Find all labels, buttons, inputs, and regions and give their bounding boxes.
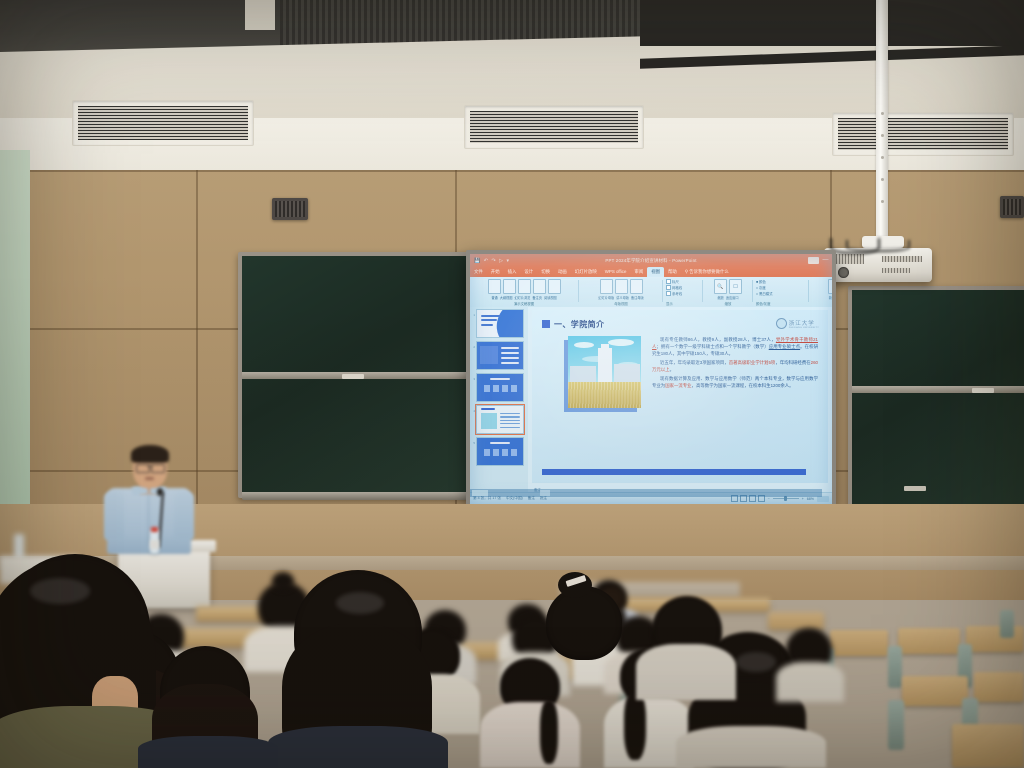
thumbnail-row-3[interactable]: 3	[471, 373, 528, 402]
ceiling-vent-right	[832, 112, 1014, 156]
photo-field	[568, 382, 641, 408]
ribbon-tab-7[interactable]: WPS office	[601, 267, 631, 277]
ribbon-group-show[interactable]: 标尺网格线参考线 显示	[666, 277, 700, 307]
slide-paragraph-0: 现有专任教师86人，教授9人，副教授28人，博士37人，党外学术骨干教师21人；…	[652, 336, 818, 357]
ribbon-tab-5[interactable]: 动画	[554, 267, 571, 277]
zoom-icon[interactable]: 🔍	[714, 279, 727, 294]
panel-seam-top	[30, 170, 1024, 172]
ribbon-tab-2[interactable]: 插入	[504, 267, 521, 277]
audience-shoulders-r6	[480, 702, 580, 768]
wall-speaker	[272, 198, 308, 220]
ribbon-tab-3[interactable]: 设计	[520, 267, 537, 277]
slide-accent-bar	[542, 469, 806, 475]
lecture-hall-photo: 💾 ↶ ↷ ▷ ▾ PPT 2024年学院介绍宣讲材料 - PowerPoint…	[0, 0, 1024, 768]
chalkboard-right	[848, 286, 1024, 516]
audience-shoulders-f6	[636, 644, 736, 700]
slide-thumbnail-2[interactable]	[476, 341, 524, 370]
ribbon-tab-strip[interactable]: 文件开始插入设计切换动画幻灯片放映WPS office审阅视图帮助⚲ 告诉我你想…	[470, 267, 832, 277]
slide-paragraph-1: 近五年，年均录取近3项国家项目，首著高级职业学计划5项，年均科研经费在260万元…	[652, 359, 818, 373]
slide-thumbnail-pane[interactable]: 12345	[470, 307, 529, 493]
empty-seat-6[interactable]	[952, 724, 1024, 768]
presenter-mouth	[145, 477, 154, 480]
checkbox-icon-2[interactable]	[666, 291, 671, 296]
chalkboard-left	[238, 252, 474, 498]
taskbar-start-icon	[472, 490, 488, 496]
color-grayscale-items[interactable]: ■ 颜色□ 灰度□ 黑白模式	[756, 277, 773, 296]
view-item-2[interactable]: 幻灯片浏览	[514, 295, 530, 300]
checkbox-icon-1[interactable]	[666, 285, 671, 290]
slide-photo[interactable]	[568, 336, 641, 408]
slide-thumbnail-4[interactable]	[476, 405, 524, 434]
zoom-in-button[interactable]: +	[802, 497, 804, 501]
ribbon-group-3-labels: 缩放适应窗口	[717, 295, 738, 300]
thumbnail-row-1[interactable]: 1	[471, 309, 528, 338]
view-item-4[interactable]: 阅读视图	[544, 295, 557, 300]
ribbon-tab-1[interactable]: 开始	[487, 267, 504, 277]
slide-title: 一、学院简介	[554, 319, 604, 330]
show-checkbox-0[interactable]: 标尺	[666, 279, 682, 284]
podium-microphone-head	[157, 488, 163, 496]
zoom-slider[interactable]	[773, 498, 799, 499]
view-item-0[interactable]: 普通	[491, 295, 497, 300]
presenter-arm-left	[104, 492, 124, 540]
reading-view-icon[interactable]	[548, 279, 561, 294]
ceiling-vent-center	[464, 105, 644, 149]
ribbon-group-zoom[interactable]: 🔍 ☐ 缩放适应窗口 缩放	[706, 277, 750, 307]
ribbon-tab-8[interactable]: 审阅	[630, 267, 647, 277]
slide-body-text[interactable]: 现有专任教师86人，教授9人，副教授28人，博士37人，党外学术骨干教师21人；…	[652, 336, 818, 391]
audience-shoulders-f4	[138, 736, 278, 768]
audience-bun-f5	[558, 572, 592, 598]
ribbon-group-window[interactable]: 新建窗口全部重排层叠移动拆分 窗口	[812, 277, 832, 307]
seat-arm-2	[888, 646, 902, 688]
outline-view-icon[interactable]	[503, 279, 516, 294]
notes-page-icon[interactable]	[533, 279, 546, 294]
ribbon-group-presentation-views[interactable]: 普通大纲视图幻灯片浏览备注页阅读视图 演示文稿视图	[472, 277, 576, 307]
audience-ponytail-r6	[540, 700, 558, 764]
slide-thumbnail-3[interactable]	[476, 373, 524, 402]
ribbon-group-master-views[interactable]: 幻灯片母版讲义母版备注母版 母版视图	[582, 277, 660, 307]
master-item-1[interactable]: 讲义母版	[616, 295, 629, 300]
ribbon-group-color-grayscale[interactable]: ■ 颜色□ 灰度□ 黑白模式 颜色/灰度	[756, 277, 806, 307]
presenter-placket	[148, 494, 149, 544]
ppt-document-title: PPT 2024年学院介绍宣讲材料 - PowerPoint	[470, 258, 832, 264]
university-logo-en: ZHEJIANG UNIVERSITY	[789, 327, 819, 329]
ribbon-tab-0[interactable]: 文件	[470, 267, 487, 277]
normal-view-icon[interactable]	[488, 279, 501, 294]
slide-thumbnail-1[interactable]	[476, 309, 524, 338]
close-window-button[interactable]: —	[822, 257, 829, 264]
audience-ponytail-r2	[624, 690, 646, 760]
audience-shoulders-r3	[676, 726, 826, 768]
ribbon-tab-10[interactable]: 帮助	[664, 267, 681, 277]
view-item-1[interactable]: 大纲视图	[500, 295, 513, 300]
color-mode-0[interactable]: ■ 颜色	[756, 279, 773, 284]
projected-taskbar	[470, 489, 822, 497]
show-checkbox-label-2: 参考线	[672, 291, 682, 296]
empty-seat-7[interactable]	[768, 612, 824, 630]
restore-window-button[interactable]	[808, 257, 819, 264]
wall-speaker-right	[1000, 196, 1024, 218]
empty-seat-2[interactable]	[898, 628, 960, 654]
university-seal-icon	[776, 318, 787, 329]
presenter-hair	[131, 445, 169, 463]
master-item-2[interactable]: 备注母版	[631, 295, 644, 300]
ribbon-tab-9[interactable]: 视图	[647, 267, 664, 277]
fit-to-window-icon[interactable]: ☐	[729, 279, 742, 294]
zoom-item-1[interactable]: 适应窗口	[726, 295, 739, 300]
presenter-glasses-bridge	[147, 466, 152, 467]
tell-me-search[interactable]: ⚲ 告诉我你想要做什么	[681, 267, 733, 277]
slide-master-icon[interactable]	[600, 279, 613, 294]
title-bullet-icon	[542, 320, 550, 328]
handout-master-icon[interactable]	[615, 279, 628, 294]
ribbon-group-0-labels: 普通大纲视图幻灯片浏览备注页阅读视图	[491, 295, 556, 300]
view-item-3[interactable]: 备注页	[532, 295, 542, 300]
photo-sky	[568, 336, 641, 382]
empty-seat-5[interactable]	[974, 672, 1024, 702]
new-window-icon[interactable]	[828, 279, 832, 294]
powerpoint-window[interactable]: 💾 ↶ ↷ ▷ ▾ PPT 2024年学院介绍宣讲材料 - PowerPoint…	[470, 254, 832, 504]
ceiling-recess	[640, 0, 1024, 46]
audience-bun-b7	[272, 572, 294, 590]
color-mode-2[interactable]: □ 黑白模式	[756, 291, 773, 296]
show-checkbox-2[interactable]: 参考线	[666, 291, 682, 296]
master-item-0[interactable]: 幻灯片母版	[598, 295, 614, 300]
ribbon-view-tab[interactable]: 普通大纲视图幻灯片浏览备注页阅读视图 演示文稿视图 幻灯片母版讲义母版备注母版 …	[470, 277, 832, 308]
ppt-title-bar: 💾 ↶ ↷ ▷ ▾ PPT 2024年学院介绍宣讲材料 - PowerPoint…	[470, 254, 832, 267]
water-bottle-cap	[151, 527, 158, 532]
seat-arm-4	[888, 700, 904, 750]
audience-shoulders-f1	[268, 726, 448, 768]
notes-master-icon[interactable]	[630, 279, 643, 294]
current-slide[interactable]: 一、学院简介 浙江大学 ZHEJIANG UNIVERSITY	[532, 310, 828, 483]
projection-screen: 💾 ↶ ↷ ▷ ▾ PPT 2024年学院介绍宣讲材料 - PowerPoint…	[466, 250, 836, 508]
presenter-arm-right	[174, 492, 194, 540]
slide-paragraph-2: 现有数据计算及应用、数学与应用数学（师范）两个本科专业，数学与应用数学专业为国家…	[652, 375, 818, 389]
presenter-glasses-right	[151, 464, 165, 473]
thumbnail-row-5[interactable]: 5	[471, 437, 528, 466]
university-logo-cn: 浙江大学	[789, 319, 819, 327]
ceiling-fixture	[245, 0, 275, 30]
zoom-item-0[interactable]: 缩放	[717, 295, 723, 300]
water-bottle-label	[150, 540, 159, 549]
projector-cable-2	[846, 240, 910, 252]
seat-arm-6	[1000, 610, 1014, 638]
ceiling-vent-left	[72, 100, 254, 146]
thumbnail-number-2: 2	[471, 341, 475, 349]
zoom-out-button[interactable]: −	[768, 497, 770, 501]
show-checkbox-label-0: 标尺	[672, 279, 679, 284]
window-item-0[interactable]: 新建窗口	[829, 295, 832, 300]
show-checkbox-1[interactable]: 网格线	[666, 285, 682, 290]
slide-sorter-icon[interactable]	[518, 279, 531, 294]
ribbon-group-5-labels: 新建窗口全部重排层叠移动拆分	[829, 295, 832, 300]
show-checkboxes[interactable]: 标尺网格线参考线	[666, 277, 682, 296]
empty-seat-1[interactable]	[830, 630, 888, 656]
university-logo: 浙江大学 ZHEJIANG UNIVERSITY	[776, 318, 819, 329]
show-checkbox-label-1: 网格线	[672, 285, 682, 290]
slide-editing-area[interactable]: 一、学院简介 浙江大学 ZHEJIANG UNIVERSITY	[528, 307, 832, 493]
thumbnail-row-2[interactable]: 2	[471, 341, 528, 370]
zoom-level: 68%	[807, 497, 814, 501]
ribbon-tab-4[interactable]: 切换	[537, 267, 554, 277]
slide-thumbnail-5[interactable]	[476, 437, 524, 466]
color-mode-1[interactable]: □ 灰度	[756, 285, 773, 290]
checkbox-icon-0[interactable]	[666, 279, 671, 284]
thumbnail-number-1: 1	[471, 309, 475, 317]
ribbon-tab-6[interactable]: 幻灯片放映	[571, 267, 601, 277]
thumbnail-number-5: 5	[471, 437, 475, 445]
thumbnail-number-3: 3	[471, 373, 475, 381]
ribbon-group-1-labels: 幻灯片母版讲义母版备注母版	[598, 295, 643, 300]
empty-seat-3[interactable]	[966, 626, 1024, 652]
audience-head-f5	[546, 586, 622, 660]
audience-shoulders-r4	[776, 662, 844, 702]
taskbar-app-icon	[540, 490, 550, 496]
thumbnail-number-4: 4	[471, 405, 475, 413]
window-controls[interactable]: —	[808, 257, 829, 264]
thumbnail-row-4[interactable]: 4	[471, 405, 528, 434]
empty-seat-4[interactable]	[902, 676, 968, 706]
